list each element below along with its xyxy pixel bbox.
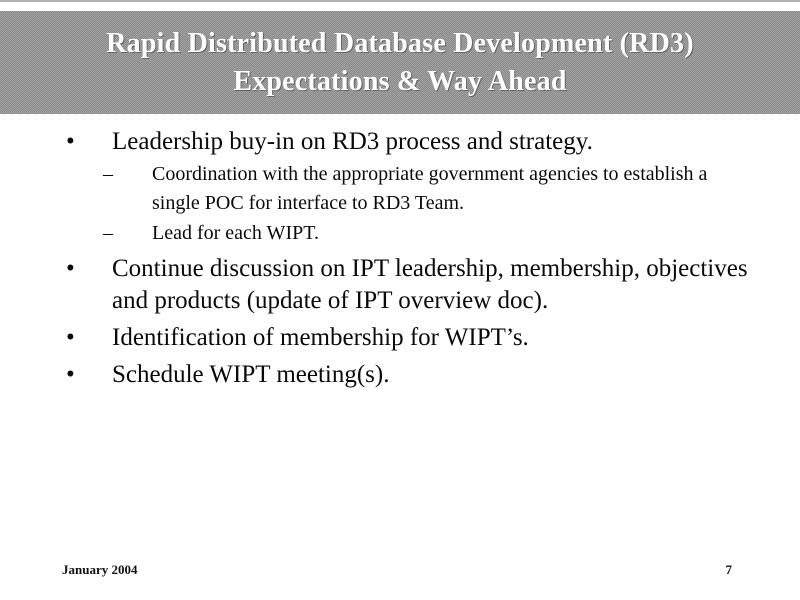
top-border-line (0, 0, 800, 2)
bullet-text: Coordination with the appropriate govern… (152, 160, 712, 218)
bullet-marker-icon: • (62, 322, 112, 354)
bullet-item-5: • Identification of membership for WIPT’… (62, 322, 800, 354)
footer-page-number: 7 (726, 562, 733, 578)
dash-marker-icon: – (100, 219, 152, 248)
bullet-marker-icon: • (62, 126, 112, 158)
slide-title-line-1: Rapid Distributed Database Development (… (106, 25, 693, 63)
bullet-item-1: • Leadership buy-in on RD3 process and s… (62, 126, 800, 158)
bullet-text: Lead for each WIPT. (152, 219, 319, 248)
slide-title-banner: Rapid Distributed Database Development (… (0, 11, 800, 114)
bullet-text: Continue discussion on IPT leadership, m… (112, 253, 752, 317)
bullet-text: Identification of membership for WIPT’s. (112, 322, 529, 354)
slide-body-content: • Leadership buy-in on RD3 process and s… (0, 126, 800, 393)
bullet-item-2: – Coordination with the appropriate gove… (100, 160, 800, 218)
bullet-item-6: • Schedule WIPT meeting(s). (62, 359, 800, 391)
footer-date: January 2004 (62, 562, 137, 578)
bullet-item-4: • Continue discussion on IPT leadership,… (62, 253, 800, 317)
bullet-marker-icon: • (62, 253, 112, 285)
bullet-marker-icon: • (62, 359, 112, 391)
bullet-item-3: – Lead for each WIPT. (100, 219, 800, 248)
slide-title-line-2: Expectations & Way Ahead (233, 63, 566, 101)
presentation-slide: Rapid Distributed Database Development (… (0, 0, 800, 600)
dash-marker-icon: – (100, 160, 152, 189)
bullet-text: Leadership buy-in on RD3 process and str… (112, 126, 593, 158)
bullet-text: Schedule WIPT meeting(s). (112, 359, 390, 391)
